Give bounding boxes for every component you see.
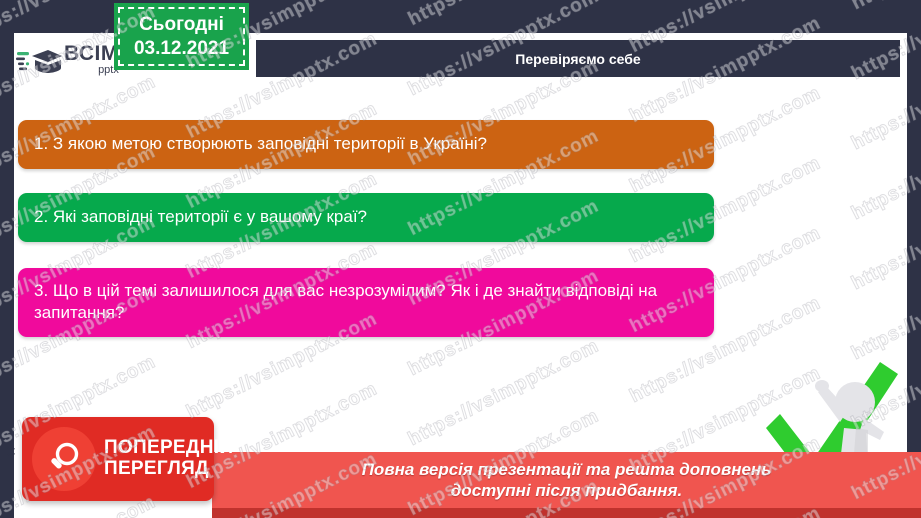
brand-suffix: pptx: [64, 65, 119, 76]
preview-badge-line-1: ПОПЕРЕДНІЙ: [104, 438, 233, 459]
question-text-3: 3. Що в цій темі залишилося для вас незр…: [34, 280, 698, 325]
preview-badge-line-2: ПЕРЕГЛЯД: [104, 459, 233, 480]
question-box-3: 3. Що в цій темі залишилося для вас незр…: [18, 268, 714, 337]
date-badge-label: Сьогодні: [139, 13, 224, 37]
question-text-1: 1. З якою метою створюють заповідні тери…: [34, 133, 487, 155]
preview-badge[interactable]: ПОПЕРЕДНІЙ ПЕРЕГЛЯД: [22, 417, 214, 501]
date-badge-inner: Сьогодні 03.12.2021: [118, 7, 245, 66]
brand-logo-text: ВСІМ pptx: [64, 43, 119, 76]
page-title: Перевіряємо себе: [515, 51, 640, 67]
question-text-2: 2. Які заповідні території є у вашому кр…: [34, 206, 367, 228]
magnifier-icon: [32, 427, 96, 491]
brand-name: ВСІМ: [64, 43, 119, 64]
graduation-cap-icon: [16, 39, 62, 79]
purchase-banner-line-1: Повна версія презентації та решта доповн…: [362, 459, 772, 480]
purchase-banner-strip: [212, 508, 921, 518]
purchase-banner: Повна версія презентації та решта доповн…: [212, 452, 921, 508]
date-badge-value: 03.12.2021: [134, 37, 229, 61]
date-badge: Сьогодні 03.12.2021: [114, 3, 249, 70]
question-box-1: 1. З якою метою створюють заповідні тери…: [18, 120, 714, 169]
slide-title-bar: Перевіряємо себе: [256, 40, 900, 77]
preview-badge-label: ПОПЕРЕДНІЙ ПЕРЕГЛЯД: [104, 438, 233, 479]
purchase-banner-line-2: доступні після придбання.: [451, 480, 682, 501]
slide-canvas: ВСІМ pptx Сьогодні 03.12.2021 Перевіряєм…: [0, 0, 921, 518]
question-box-2: 2. Які заповідні території є у вашому кр…: [18, 193, 714, 242]
